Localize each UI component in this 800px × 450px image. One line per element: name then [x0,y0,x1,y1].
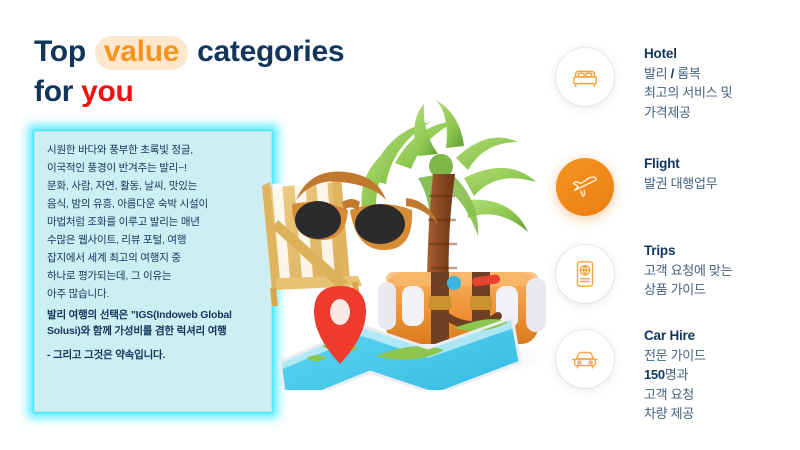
suitcase [378,272,546,344]
title-accent-you: you [81,75,133,108]
page-title-line-1: Top value categories [34,32,434,72]
callout-line: 음식, 밤의 유흥, 아름다운 숙박 시설이 [47,195,261,213]
callout-line: 수많은 웹사이트, 리뷰 포털, 여행 [47,231,261,249]
callout-line: 잡지에서 세계 최고의 여행지 중 [47,249,261,267]
hotel-icon-circle[interactable] [556,48,614,106]
title-word-categories: categories [189,35,344,68]
callout-line: 문화, 사람, 자연, 활동, 날씨, 맛있는 [47,177,261,195]
feature-text-car-hire: Car Hire 전문 가이드 150명과 고객 요청 차량 제공 [644,326,800,423]
slide-root: Top value categories for you 시원한 바다와 풍부한… [0,0,800,450]
beach-travel-illustration [258,70,568,390]
callout-line: 아주 많습니다. [47,285,261,303]
feature-count: 150명과 [644,367,688,382]
feature-line: 발권 대행업무 [644,174,800,193]
title-word-top: Top [34,35,94,68]
trips-icon-circle[interactable] [556,245,614,303]
car-icon [570,344,600,374]
feature-line: 전문 가이드 [644,346,800,365]
feature-line: 차량 제공 [644,404,800,423]
feature-line: 고객 요청 [644,385,800,404]
feature-line: 상품 가이드 [644,280,800,299]
feature-line: 발리 / 롬복 [644,64,800,83]
feature-line-emphasis: 150명과 [644,365,800,384]
feature-title: Hotel [644,44,800,64]
feature-line: 최고의 서비스 및 [644,83,800,102]
airplane-icon [570,172,600,202]
flight-icon-circle[interactable] [556,158,614,216]
feature-text-trips: Trips 고객 요청에 맞는 상품 가이드 [644,241,800,300]
deck-chair [262,176,362,306]
feature-text-flight: Flight 발권 대행업무 [644,154,800,193]
callout-line: 시원한 바다와 풍부한 초록빛 정글, [47,141,261,159]
feature-list: Hotel 발리 / 롬복 최고의 서비스 및 가격제공 Flight 발권 대… [552,30,800,420]
callout-bold-closing: - 그리고 그것은 약속입니다. [47,346,261,364]
title-highlight-value: value [95,36,188,70]
callout-line: 이국적인 풍경이 반겨주는 발리~! [47,159,261,177]
callout-bold-statement: 발리 여행의 선택은 "IGS(Indoweb Global Solusi)와 … [47,308,261,338]
bed-icon [570,62,600,92]
feature-title: Car Hire [644,326,800,346]
passport-icon [570,259,600,289]
title-word-for: for [34,75,81,108]
feature-title: Flight [644,154,800,174]
car-icon-circle[interactable] [556,330,614,388]
feature-line: 고객 요청에 맞는 [644,261,800,280]
feature-line: 가격제공 [644,103,800,122]
callout-line: 마법처럼 조화를 이루고 발리는 매년 [47,213,261,231]
feature-title: Trips [644,241,800,261]
feature-text-hotel: Hotel 발리 / 롬복 최고의 서비스 및 가격제공 [644,44,800,122]
sunglasses [292,172,438,250]
description-callout: 시원한 바다와 풍부한 초록빛 정글, 이국적인 풍경이 반겨주는 발리~! 문… [34,131,272,412]
callout-line: 하나로 평가되는데, 그 이유는 [47,267,261,285]
palm-tree [361,100,536,292]
